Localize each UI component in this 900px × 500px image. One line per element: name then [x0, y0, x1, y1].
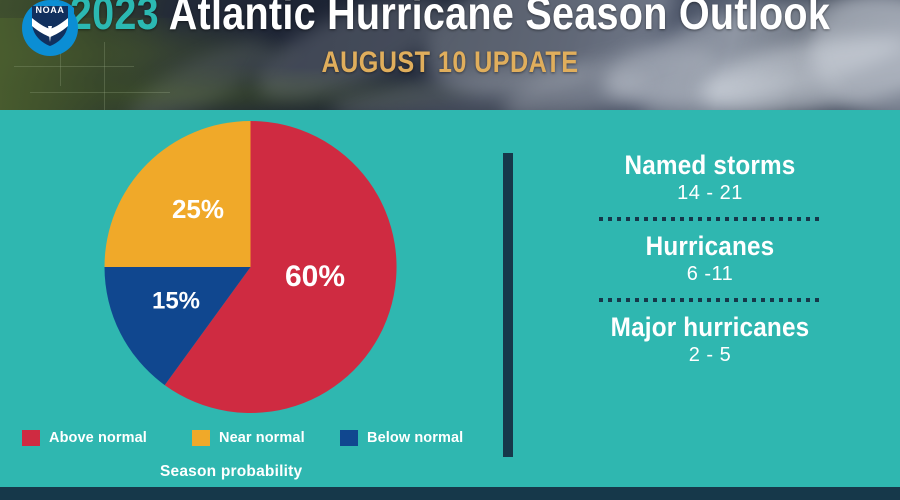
legend-item-above-normal: Above normal	[22, 430, 147, 446]
pie-value-near-normal: 25%	[172, 194, 224, 224]
header-banner: 2023 Atlantic Hurricane Season Outlook A…	[0, 0, 900, 110]
vertical-divider	[503, 153, 513, 457]
legend-swatch-above-normal	[22, 430, 40, 446]
hurricane-outlook-infographic: 2023 Atlantic Hurricane Season Outlook A…	[0, 0, 900, 500]
legend-swatch-near-normal	[192, 430, 210, 446]
season-probability-pie-chart: 60% 25% 15%	[98, 121, 403, 413]
legend-label-above-normal: Above normal	[49, 430, 147, 446]
stat-label-hurricanes: Hurricanes	[539, 231, 881, 261]
stat-separator	[599, 217, 821, 221]
svg-text:NOAA: NOAA	[36, 5, 65, 15]
legend-caption: Season probability	[160, 463, 302, 481]
pie-svg: 60% 25% 15%	[98, 121, 403, 413]
title-rest: Atlantic Hurricane Season Outlook	[159, 0, 830, 39]
stat-range-major-hurricanes: 2 - 5	[520, 342, 900, 368]
stat-label-named-storms: Named storms	[539, 150, 881, 180]
update-subtitle: AUGUST 10 UPDATE	[72, 46, 828, 80]
header-title-group: 2023 Atlantic Hurricane Season Outlook A…	[0, 0, 900, 82]
title-year: 2023	[70, 0, 159, 39]
stat-major-hurricanes: Major hurricanes 2 - 5	[520, 312, 900, 368]
legend-item-below-normal: Below normal	[340, 430, 463, 446]
chart-legend: Above normal Near normal Below normal	[20, 430, 480, 450]
stat-range-hurricanes: 6 -11	[520, 261, 900, 287]
stat-named-storms: Named storms 14 - 21	[520, 150, 900, 206]
stat-label-major-hurricanes: Major hurricanes	[539, 312, 881, 342]
noaa-logo-icon: NOAA	[18, 0, 82, 60]
page-title: 2023 Atlantic Hurricane Season Outlook	[63, 0, 837, 37]
legend-label-below-normal: Below normal	[367, 430, 463, 446]
pie-value-below-normal: 15%	[152, 287, 200, 314]
stat-hurricanes: Hurricanes 6 -11	[520, 231, 900, 287]
legend-swatch-below-normal	[340, 430, 358, 446]
forecast-stats-panel: Named storms 14 - 21 Hurricanes 6 -11 Ma…	[520, 150, 900, 368]
legend-item-near-normal: Near normal	[192, 430, 305, 446]
stat-range-named-storms: 14 - 21	[520, 180, 900, 206]
pie-value-above-normal: 60%	[285, 260, 345, 293]
stat-separator	[599, 298, 821, 302]
legend-label-near-normal: Near normal	[219, 430, 305, 446]
footer-strip	[0, 487, 900, 500]
